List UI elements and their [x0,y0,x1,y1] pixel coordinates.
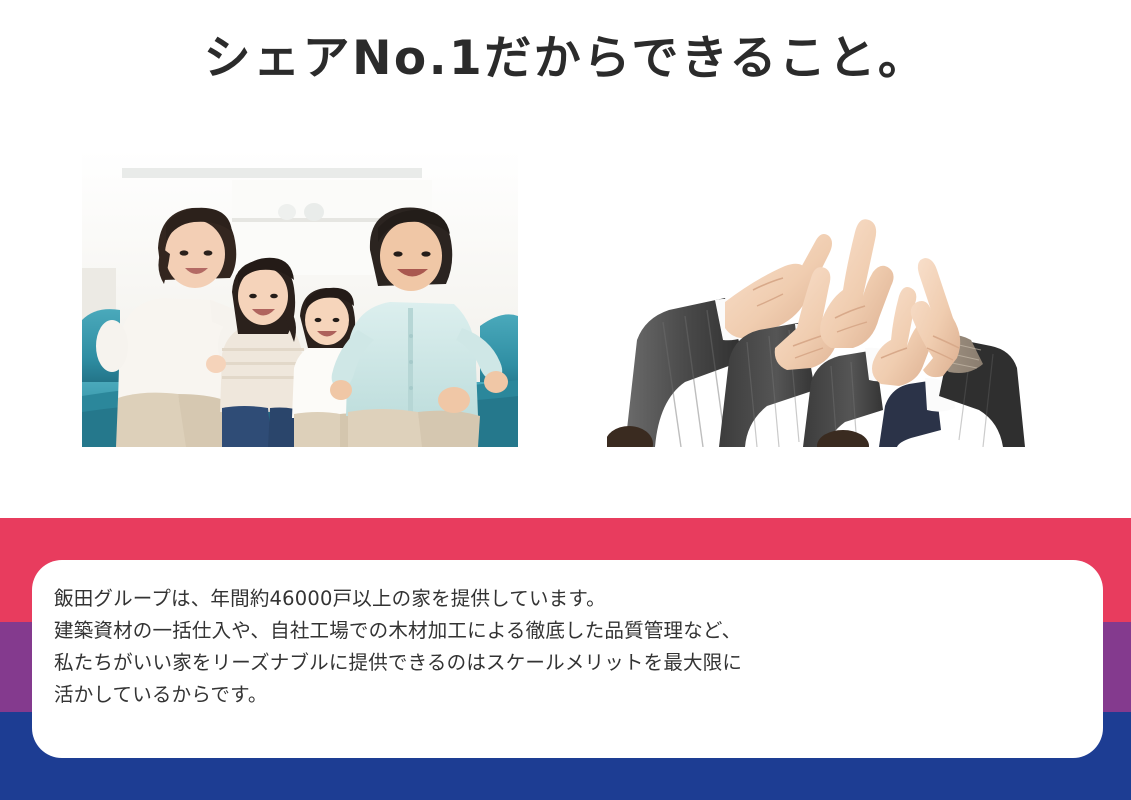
page-title: シェアNo.1だからできること。 [0,30,1131,89]
family-on-sofa-photo [82,150,518,447]
family-photo-illustration [82,150,518,447]
description-text: 飯田グループは、年間約46000戸以上の家を提供しています。 建築資材の一括仕入… [54,583,1083,711]
pointing-hands-photo [607,150,1042,447]
hands-photo-illustration [607,150,1042,447]
promo-page: シェアNo.1だからできること。 [0,0,1131,800]
photo-row [0,150,1131,450]
description-card: 飯田グループは、年間約46000戸以上の家を提供しています。 建築資材の一括仕入… [32,560,1103,758]
